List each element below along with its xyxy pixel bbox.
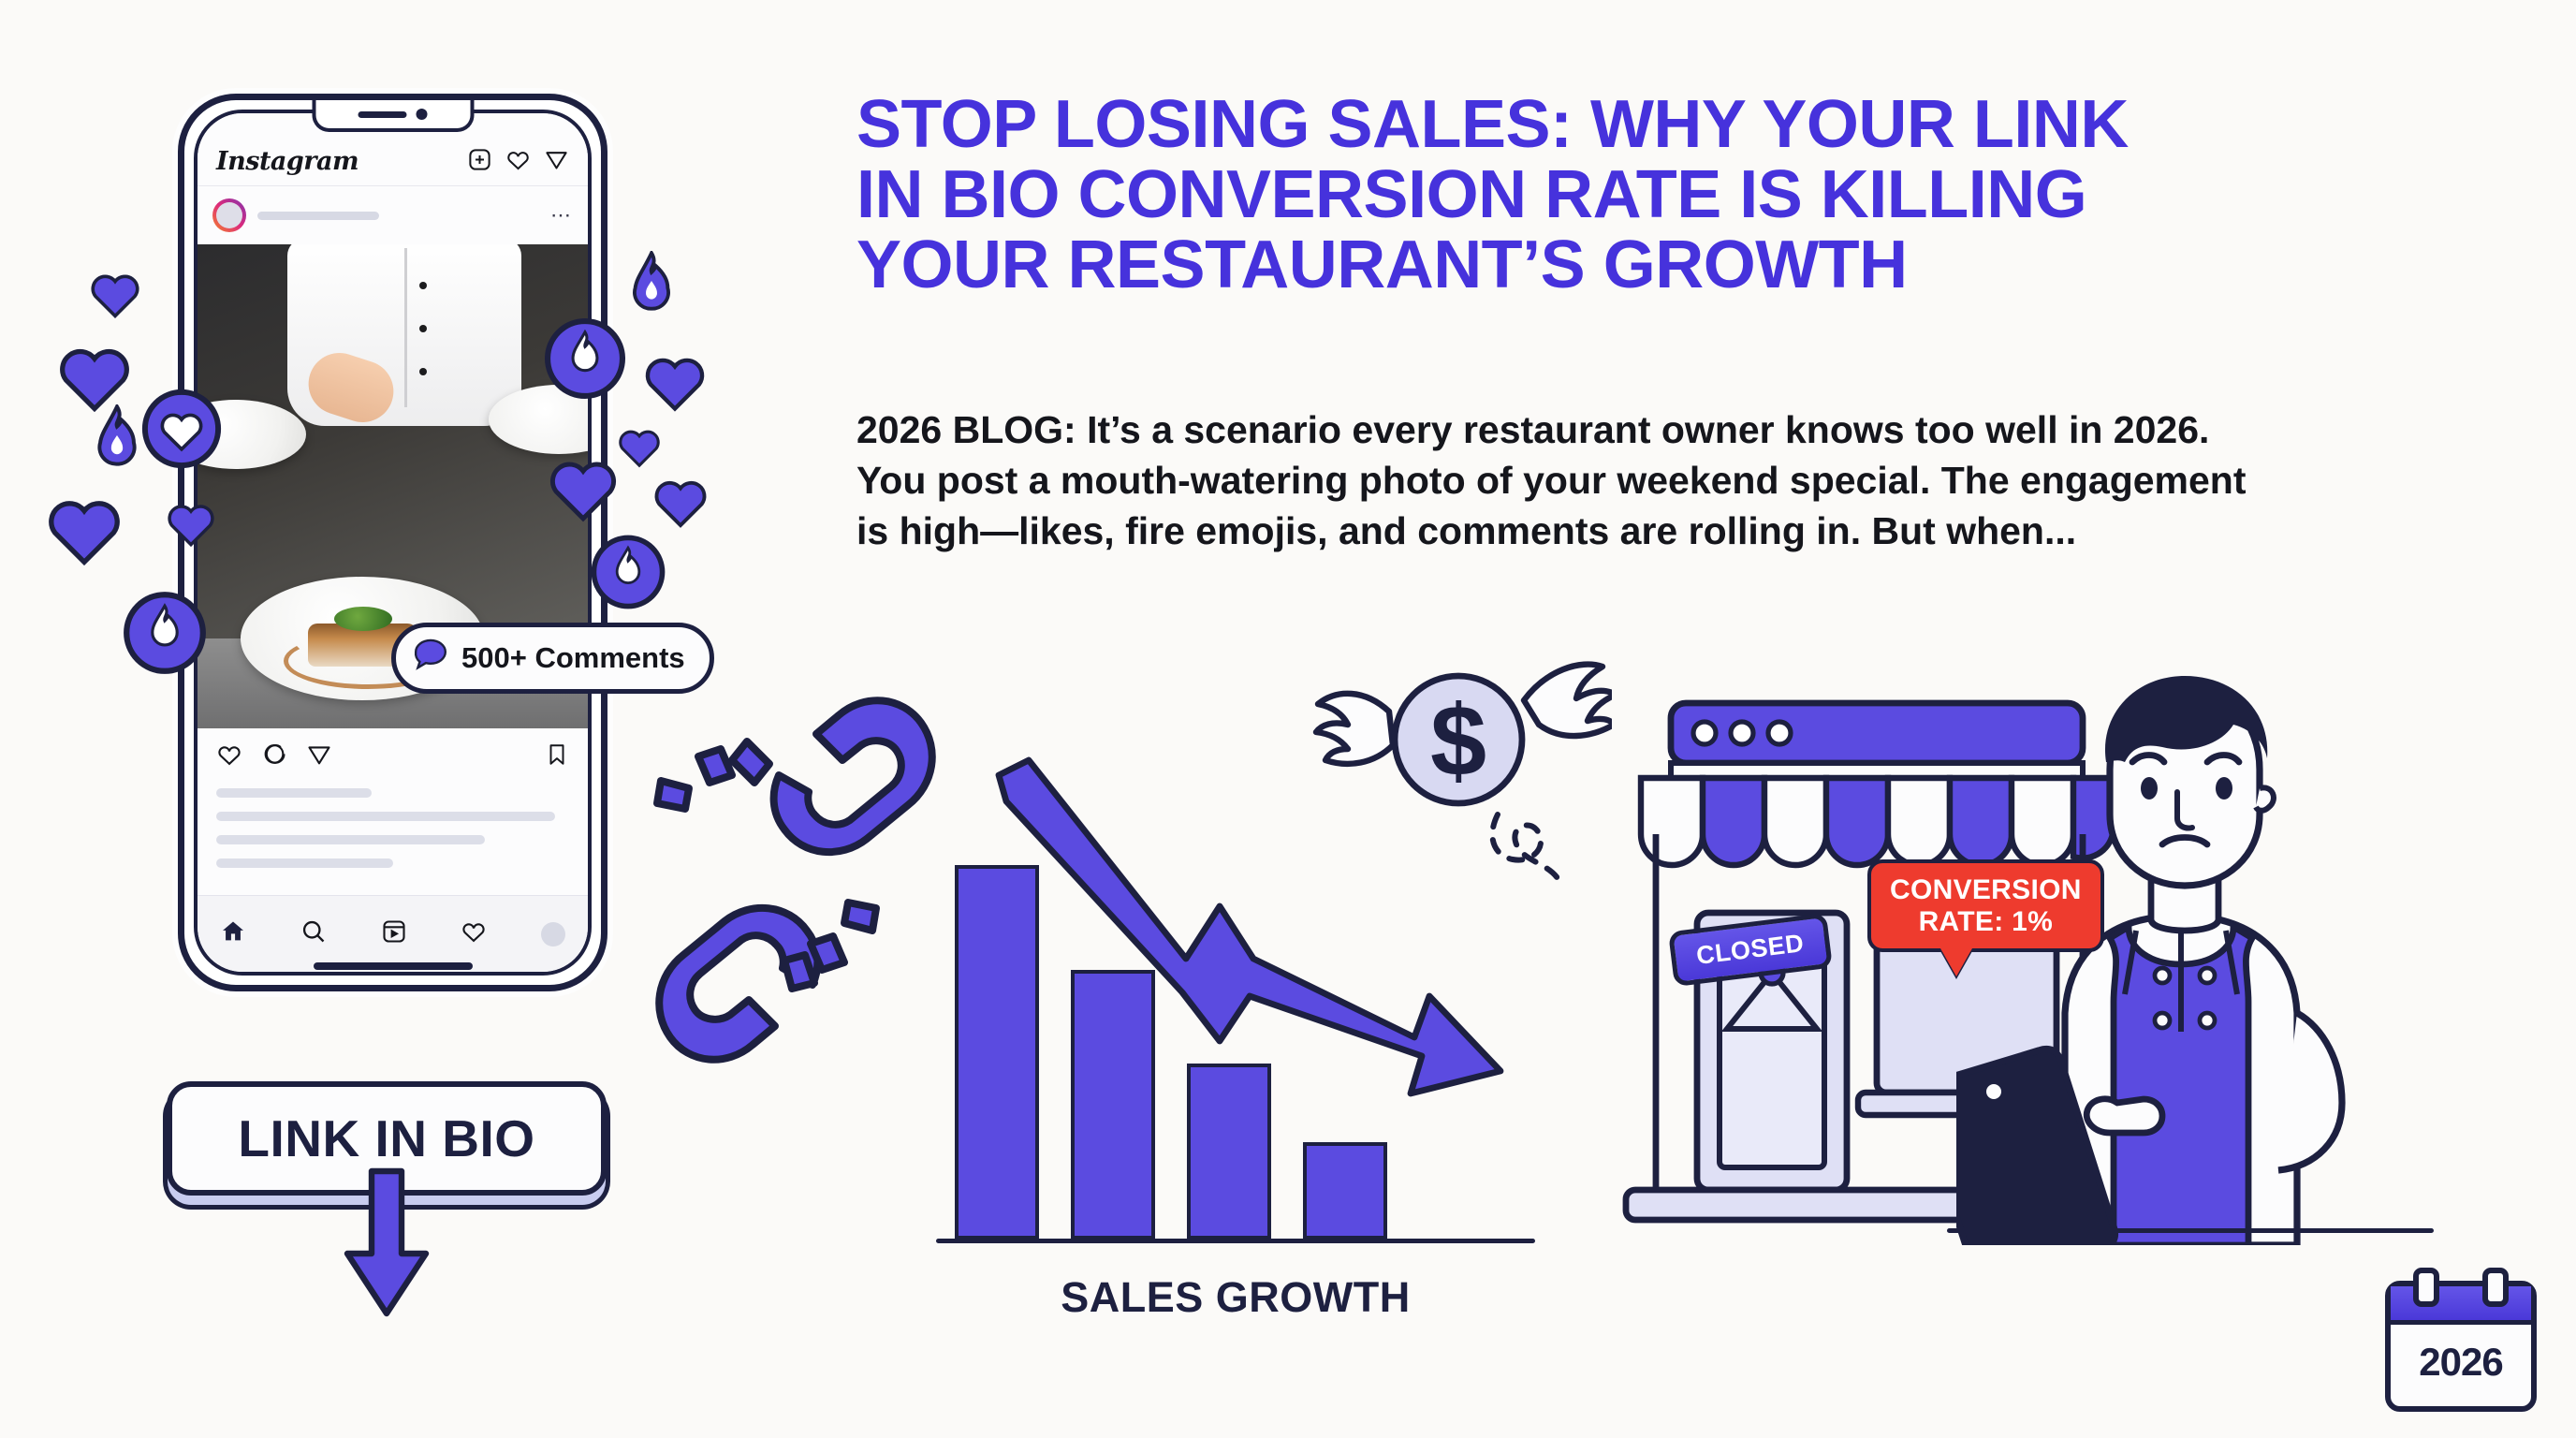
fire-badge-icon <box>541 315 629 403</box>
heart-icon[interactable] <box>505 147 531 177</box>
calendar-ring-right <box>2482 1268 2509 1307</box>
poster-canvas: STOP LOSING SALES: WHY YOUR LINK IN BIO … <box>0 0 2576 1438</box>
calendar-2026-icon: 2026 <box>2385 1281 2537 1412</box>
headline-line-1: STOP LOSING SALES: WHY YOUR LINK <box>856 90 2485 160</box>
link-in-bio-label: LINK IN BIO <box>238 1108 534 1168</box>
chart-baseline <box>936 1239 1535 1243</box>
post-caption-placeholder <box>198 785 588 895</box>
phone-mockup: Instagram <box>178 94 607 991</box>
search-icon[interactable] <box>300 918 327 949</box>
front-camera-icon <box>417 109 428 120</box>
herb-garnish <box>334 607 392 631</box>
comments-badge: 500+ Comments <box>391 623 714 694</box>
home-indicator <box>314 962 473 970</box>
instagram-wordmark: Instagram <box>216 147 454 176</box>
calendar-year-label: 2026 <box>2391 1325 2531 1400</box>
heart-reaction-icon <box>644 354 706 412</box>
closed-sign-label: CLOSED <box>1695 929 1806 970</box>
reels-icon[interactable] <box>381 918 407 949</box>
comment-icon[interactable] <box>261 741 287 772</box>
calendar-header <box>2391 1286 2531 1325</box>
body-copy: 2026 BLOG: It’s a scenario every restaur… <box>856 404 2485 556</box>
heart-reaction-icon <box>58 345 131 412</box>
link-in-bio-block: LINK IN BIO <box>167 1081 607 1196</box>
post-user-row: ⋯ <box>198 186 588 244</box>
winged-money-icon: $ <box>1303 614 1612 890</box>
conversion-rate-badge: CONVERSION RATE: 1% <box>1867 859 2104 952</box>
fire-reaction-icon <box>90 404 144 466</box>
headline-line-2: IN BIO CONVERSION RATE IS KILLING <box>856 160 2485 230</box>
headline-line-3: YOUR RESTAURANT’S GROWTH <box>856 230 2485 301</box>
phone-notch <box>312 100 474 132</box>
heart-reaction-icon <box>618 427 661 468</box>
phone-screen: Instagram <box>194 110 592 976</box>
body-line-3: is high—likes, fire emojis, and comments… <box>856 506 2485 556</box>
heart-reaction-icon <box>653 477 708 528</box>
fire-badge-icon <box>588 532 668 612</box>
chart-bar <box>1071 970 1155 1240</box>
send-icon[interactable] <box>544 147 569 177</box>
page-title: STOP LOSING SALES: WHY YOUR LINK IN BIO … <box>856 90 2485 301</box>
chart-bars <box>955 865 1442 1240</box>
plus-square-icon[interactable] <box>467 147 492 177</box>
bottom-nav-bar <box>198 895 588 972</box>
fire-reaction-icon <box>625 251 678 311</box>
heart-reaction-icon <box>90 271 140 318</box>
broken-link-icon <box>618 693 973 1072</box>
post-actions <box>198 728 588 785</box>
chart-bar <box>1303 1142 1387 1240</box>
body-line-2: You post a mouth-watering photo of your … <box>856 455 2485 506</box>
heart-icon[interactable] <box>216 741 242 772</box>
conversion-badge-line-2: RATE: 1% <box>1890 906 2082 938</box>
body-line-1: 2026 BLOG: It’s a scenario every restaur… <box>856 404 2485 455</box>
comments-count-label: 500+ Comments <box>461 641 685 675</box>
heart-icon[interactable] <box>461 918 487 949</box>
home-icon[interactable] <box>220 918 246 949</box>
bookmark-icon[interactable] <box>545 741 569 772</box>
calendar-ring-left <box>2413 1268 2439 1307</box>
avatar[interactable] <box>212 198 246 232</box>
send-icon[interactable] <box>306 741 332 772</box>
down-arrow-icon <box>332 1167 441 1322</box>
comment-bubble-icon <box>413 638 448 679</box>
ground-line <box>1947 1228 2434 1233</box>
svg-text:$: $ <box>1430 683 1486 797</box>
chart-bar <box>1187 1064 1271 1240</box>
heart-reaction-icon <box>549 457 618 522</box>
speaker-grille <box>359 111 407 118</box>
chart-title: SALES GROWTH <box>936 1273 1535 1322</box>
heart-badge-icon <box>139 386 225 472</box>
chart-bar <box>955 865 1039 1240</box>
username-placeholder <box>257 212 379 220</box>
fire-badge-icon <box>120 588 210 678</box>
heart-reaction-icon <box>167 502 215 547</box>
heart-reaction-icon <box>47 496 122 565</box>
conversion-badge-line-1: CONVERSION <box>1890 874 2082 906</box>
profile-avatar[interactable] <box>541 922 565 946</box>
